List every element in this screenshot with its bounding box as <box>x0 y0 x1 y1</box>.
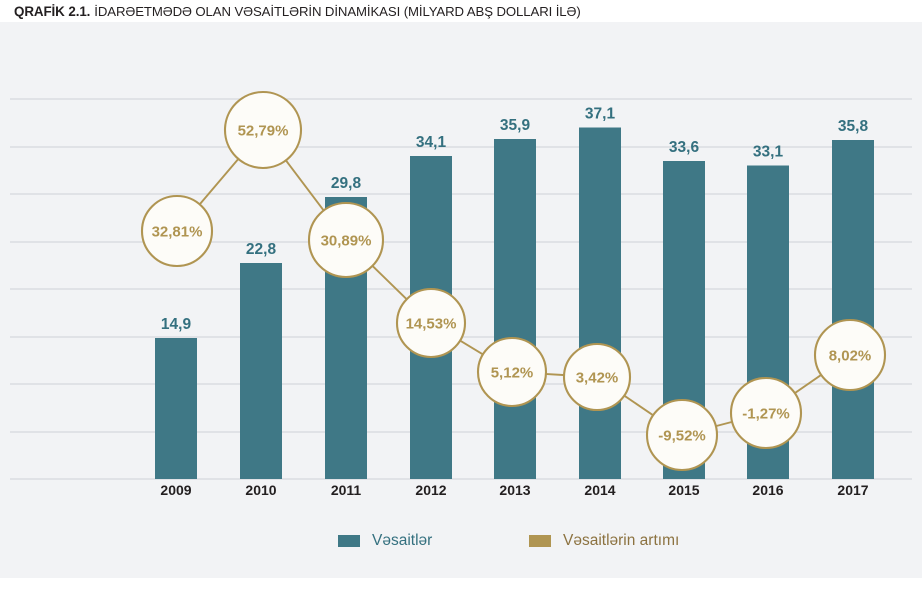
x-axis-label-2015: 2015 <box>668 482 699 498</box>
growth-bubble-2016[interactable]: -1,27% <box>731 378 801 448</box>
bubble-value-label: 52,79% <box>238 123 289 140</box>
bar-value-label: 35,8 <box>838 118 869 135</box>
chart-title-text: İDARƏETMƏDƏ OLAN VƏSAİTLƏRİN DİNAMİKASI … <box>94 4 580 19</box>
bubble-value-label: -1,27% <box>742 406 790 423</box>
bar-value-label: 34,1 <box>416 134 447 151</box>
growth-bubble-2012[interactable]: 14,53% <box>397 289 465 357</box>
bottom-strip <box>0 578 922 589</box>
growth-bubble-2010[interactable]: 52,79% <box>225 92 301 168</box>
bubble-value-label: 8,02% <box>829 348 872 365</box>
x-axis-label-2010: 2010 <box>245 482 276 498</box>
x-axis-label-2017: 2017 <box>837 482 868 498</box>
bubble-value-label: 30,89% <box>321 233 372 250</box>
growth-connector <box>623 395 653 416</box>
page-title: QRAFİK 2.1.İDARƏETMƏDƏ OLAN VƏSAİTLƏRİN … <box>14 4 581 19</box>
bar-value-label: 33,6 <box>669 139 700 156</box>
x-axis-label-2014: 2014 <box>584 482 615 498</box>
bar-value-label: 33,1 <box>753 144 784 161</box>
legend-label: Vəsaitlər <box>372 532 432 549</box>
growth-bubble-2011[interactable]: 30,89% <box>309 203 383 277</box>
legend-item-2[interactable]: Vəsaitlərin artımı <box>529 532 679 549</box>
chart-svg: 14,922,829,834,135,937,133,633,135,8 32,… <box>0 22 922 578</box>
bar-value-label: 22,8 <box>246 241 277 258</box>
growth-bubble-2013[interactable]: 5,12% <box>478 338 546 406</box>
chart-title-bar: QRAFİK 2.1.İDARƏETMƏDƏ OLAN VƏSAİTLƏRİN … <box>0 0 922 22</box>
legend-swatch <box>529 535 551 547</box>
growth-bubble-2017[interactable]: 8,02% <box>815 320 885 390</box>
x-axis-labels-group: 200920102011201220132014201520162017 <box>160 482 868 498</box>
legend-group: VəsaitlərVəsaitlərin artımı <box>338 532 679 549</box>
growth-connector <box>459 340 484 355</box>
bar-value-label: 14,9 <box>161 316 192 333</box>
bar-value-label: 37,1 <box>585 106 616 123</box>
growth-bubble-2009[interactable]: 32,81% <box>142 196 212 266</box>
bar-value-label: 29,8 <box>331 175 362 192</box>
x-axis-label-2011: 2011 <box>331 482 362 498</box>
bubble-value-label: 3,42% <box>576 370 619 387</box>
chart-page: QRAFİK 2.1.İDARƏETMƏDƏ OLAN VƏSAİTLƏRİN … <box>0 0 922 589</box>
bar-2013[interactable] <box>494 139 536 479</box>
bar-2014[interactable] <box>579 128 621 479</box>
x-axis-label-2009: 2009 <box>160 482 191 498</box>
legend-swatch <box>338 535 360 547</box>
x-axis-label-2016: 2016 <box>752 482 783 498</box>
growth-bubble-2015[interactable]: -9,52% <box>647 400 717 470</box>
growth-connector <box>545 374 565 375</box>
growth-connector <box>199 158 239 205</box>
chart-plot-area: 14,922,829,834,135,937,133,633,135,8 32,… <box>0 22 922 578</box>
x-axis-label-2013: 2013 <box>499 482 530 498</box>
legend-item-1[interactable]: Vəsaitlər <box>338 532 432 549</box>
growth-connector <box>715 422 733 427</box>
bar-2017[interactable] <box>832 140 874 479</box>
bubble-value-label: 5,12% <box>491 365 534 382</box>
legend-label: Vəsaitlərin artımı <box>563 532 679 549</box>
growth-bubble-2014[interactable]: 3,42% <box>564 344 630 410</box>
bubble-value-label: -9,52% <box>658 428 706 445</box>
bubble-value-label: 32,81% <box>152 224 203 241</box>
chart-title-prefix: QRAFİK 2.1. <box>14 4 90 19</box>
growth-connector <box>285 160 324 212</box>
bar-value-label: 35,9 <box>500 117 531 134</box>
bar-2009[interactable] <box>155 338 197 479</box>
bar-2010[interactable] <box>240 263 282 479</box>
x-axis-label-2012: 2012 <box>415 482 446 498</box>
growth-connector <box>372 265 408 300</box>
bubble-value-label: 14,53% <box>406 316 457 333</box>
